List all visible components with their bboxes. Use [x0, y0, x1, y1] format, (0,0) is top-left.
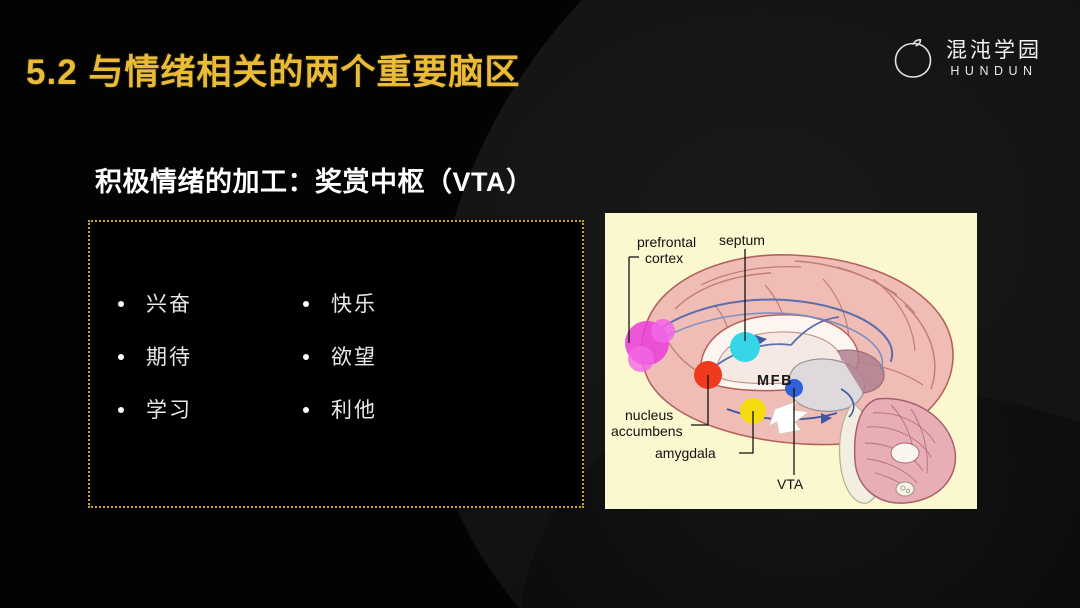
bullet-dot-icon: [303, 407, 309, 413]
bullet-item-label: 利他: [331, 400, 377, 421]
bullet-columns: 兴奋 期待 学习 快乐 欲望: [118, 284, 488, 443]
bullet-dot-icon: [118, 407, 124, 413]
prefrontal-cortex-label-line1: prefrontal: [637, 234, 696, 250]
bullet-item-label: 兴奋: [146, 294, 192, 315]
list-item: 利他: [303, 390, 488, 430]
nucleus-accumbens-label-line2: accumbens: [611, 423, 683, 439]
bullet-column-right: 快乐 欲望 利他: [303, 284, 488, 443]
brain-reward-circuit-diagram: MFB prefrontal cortex septum nucleus acc…: [605, 213, 977, 509]
vta-label: VTA: [777, 476, 804, 492]
bullet-dot-icon: [303, 354, 309, 360]
bullet-list-box: 兴奋 期待 学习 快乐 欲望: [88, 220, 584, 508]
list-item: 学习: [118, 390, 303, 430]
brain-diagram-svg: MFB prefrontal cortex septum nucleus acc…: [605, 213, 977, 509]
bullet-column-left: 兴奋 期待 学习: [118, 284, 303, 443]
bullet-dot-icon: [118, 354, 124, 360]
bullet-dot-icon: [303, 301, 309, 307]
apple-outline-icon: [892, 36, 934, 80]
slide-canvas: 5.2 与情绪相关的两个重要脑区 混沌学园 HUNDUN 积极情绪的加工：奖赏中…: [0, 0, 1080, 608]
brand-logo: 混沌学园 HUNDUN: [892, 36, 1042, 80]
bullet-item-label: 期待: [146, 347, 192, 368]
brand-name-en: HUNDUN: [950, 65, 1037, 78]
prefrontal-cortex-label-line2: cortex: [645, 250, 683, 266]
section-subtitle: 积极情绪的加工：奖赏中枢（VTA）: [95, 160, 534, 199]
list-item: 期待: [118, 337, 303, 377]
brand-name-cn: 混沌学园: [946, 39, 1042, 62]
list-item: 快乐: [303, 284, 488, 324]
bullet-dot-icon: [118, 301, 124, 307]
list-item: 欲望: [303, 337, 488, 377]
list-item: 兴奋: [118, 284, 303, 324]
brand-logo-text: 混沌学园 HUNDUN: [946, 39, 1042, 78]
amygdala-label: amygdala: [655, 445, 716, 461]
mfb-label: MFB: [757, 373, 793, 389]
bullet-item-label: 学习: [146, 400, 192, 421]
bullet-item-label: 快乐: [331, 294, 377, 315]
septum-label: septum: [719, 232, 765, 248]
page-title: 5.2 与情绪相关的两个重要脑区: [26, 44, 520, 95]
bullet-item-label: 欲望: [331, 347, 377, 368]
nucleus-accumbens-label-line1: nucleus: [625, 407, 673, 423]
